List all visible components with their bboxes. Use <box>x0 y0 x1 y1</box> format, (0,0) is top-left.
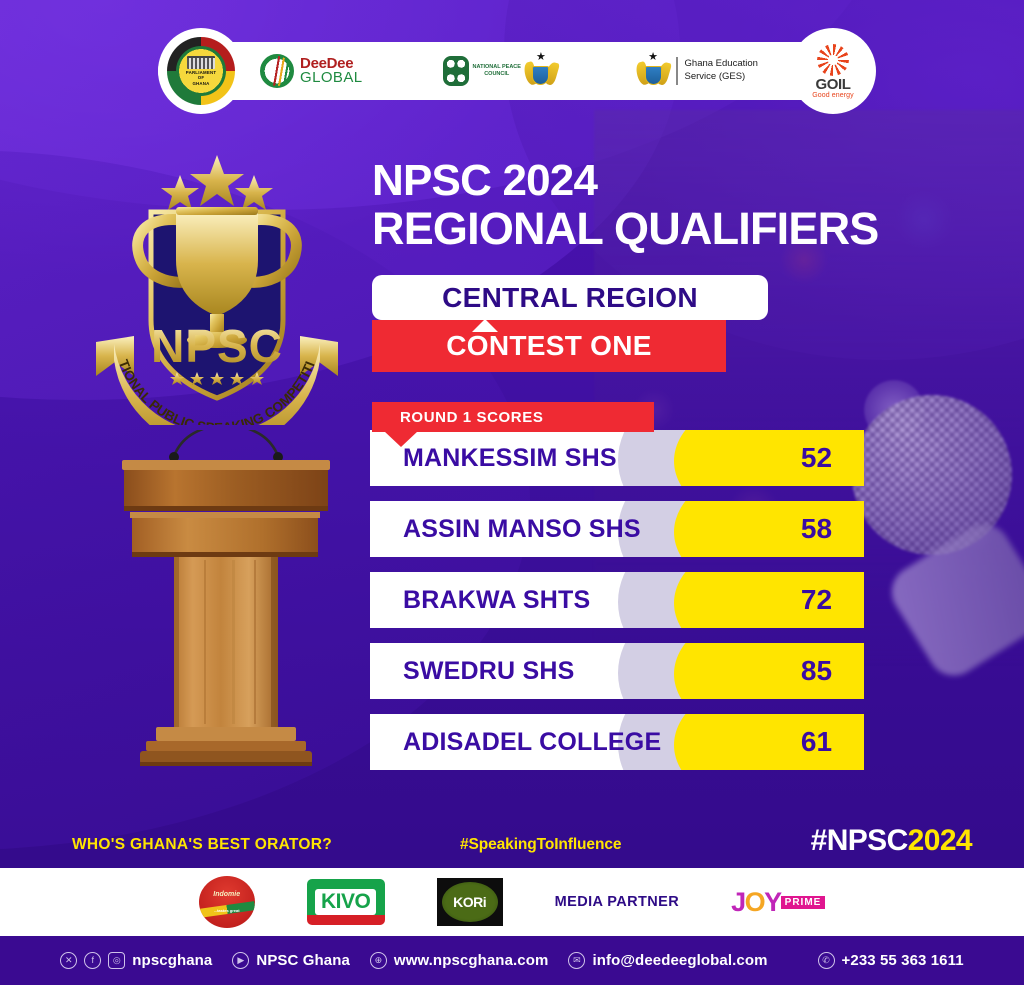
table-row[interactable]: MANKESSIM SHS 52 <box>370 430 864 486</box>
round-label-banner: ROUND 1 SCORES <box>372 402 654 432</box>
page-title: NPSC 2024 REGIONAL QUALIFIERS <box>372 158 972 252</box>
email-group: ✉ info@deedeeglobal.com <box>568 952 767 969</box>
tagline-row: WHO'S GHANA'S BEST ORATOR? #SpeakingToIn… <box>0 832 1024 866</box>
npc-line2: COUNCIL <box>473 71 521 78</box>
kori-logo: KORi <box>437 878 503 926</box>
indomie-tagline: ...tastes great <box>214 909 240 914</box>
deedee-globe-icon <box>260 54 294 88</box>
school-score: 52 <box>769 430 864 486</box>
npsc-trophy-emblem: NPSC NATIONAL PUBLIC SPEAKING COMPETITIO… <box>88 150 346 425</box>
facebook-icon[interactable]: f <box>84 952 101 969</box>
contact-bar: ✕ f ◎ npscghana ▶ NPSC Ghana ⊕ www.npscg… <box>0 936 1024 985</box>
joy-prime-label: PRIME <box>781 896 826 909</box>
ges-line1: Ghana Education <box>685 58 758 71</box>
deedee-name-line2: GLOBAL <box>300 71 362 85</box>
svg-text:NPSC: NPSC <box>151 320 283 372</box>
campaign-hashtag: #NPSC2024 <box>811 824 972 858</box>
national-peace-council-logo: NATIONAL PEACE COUNCIL ★ <box>443 53 557 89</box>
social-handles-group: ✕ f ◎ npscghana <box>60 952 212 969</box>
deedee-global-logo: DeeDee GLOBAL <box>260 54 362 88</box>
round-notch-icon <box>384 431 418 447</box>
npc-line1: NATIONAL PEACE <box>473 64 521 71</box>
school-score: 58 <box>769 501 864 557</box>
phone-icon: ✆ <box>818 952 835 969</box>
kivo-logo: KIVO <box>307 879 385 925</box>
school-name: ASSIN MANSO SHS <box>370 515 641 544</box>
school-score: 85 <box>769 643 864 699</box>
joy-name: JOY <box>731 891 781 914</box>
contest-label: CONTEST ONE <box>446 330 652 362</box>
table-row[interactable]: SWEDRU SHS 85 <box>370 643 864 699</box>
goil-logo: GOIL Good energy <box>790 28 876 114</box>
tagline-hashtag: #SpeakingToInfluence <box>460 836 621 854</box>
envelope-icon: ✉ <box>568 952 585 969</box>
round-label: ROUND 1 SCORES <box>400 409 543 426</box>
podium-illustration <box>112 430 340 780</box>
sponsor-bar: DeeDee GLOBAL NATIONAL PEACE COUNCIL ★ ★ <box>158 42 868 100</box>
school-name: BRAKWA SHTS <box>370 586 590 615</box>
goil-swirl-icon <box>817 44 849 76</box>
kivo-label: KIVO <box>315 889 376 915</box>
youtube-channel: NPSC Ghana <box>256 952 350 969</box>
phone-group: ✆ +233 55 363 1611 <box>818 952 964 969</box>
kori-label: KORi <box>442 882 498 922</box>
parliament-of-ghana-logo: PARLIAMENT OF GHANA <box>158 28 244 114</box>
social-handle: npscghana <box>132 952 212 969</box>
school-score: 61 <box>769 714 864 770</box>
tagline-question: WHO'S GHANA'S BEST ORATOR? <box>72 836 332 854</box>
table-row[interactable]: BRAKWA SHTS 72 <box>370 572 864 628</box>
school-name: MANKESSIM SHS <box>370 444 617 473</box>
table-row[interactable]: ASSIN MANSO SHS 58 <box>370 501 864 557</box>
email-address[interactable]: info@deedeeglobal.com <box>592 952 767 969</box>
ges-line2: Service (GES) <box>685 71 758 84</box>
media-partner-label: MEDIA PARTNER <box>555 894 679 910</box>
parliament-line3: GHANA <box>179 81 223 87</box>
school-name: ADISADEL COLLEGE <box>370 728 661 757</box>
goil-name: GOIL <box>812 77 854 92</box>
indomie-name: Indomie <box>213 891 240 899</box>
globe-icon: ⊕ <box>370 952 387 969</box>
indomie-logo: Indomie ...tastes great <box>199 876 255 928</box>
x-twitter-icon[interactable]: ✕ <box>60 952 77 969</box>
goil-tagline: Good energy <box>812 92 854 99</box>
school-score: 72 <box>769 572 864 628</box>
website-group: ⊕ www.npscghana.com <box>370 952 549 969</box>
instagram-icon[interactable]: ◎ <box>108 952 125 969</box>
partner-band: Indomie ...tastes great KIVO KORi MEDIA … <box>0 868 1024 936</box>
headline-line1: NPSC 2024 <box>372 158 972 205</box>
youtube-group: ▶ NPSC Ghana <box>232 952 350 969</box>
peace-knot-icon <box>443 56 469 86</box>
school-name: SWEDRU SHS <box>370 657 574 686</box>
poster-canvas: DeeDee GLOBAL NATIONAL PEACE COUNCIL ★ ★ <box>0 0 1024 985</box>
joy-prime-logo: JOY PRIME <box>731 891 825 914</box>
campaign-hashtag-white: #NPSC <box>811 824 908 857</box>
contest-notch-icon <box>472 319 498 332</box>
website-url[interactable]: www.npscghana.com <box>394 952 549 969</box>
table-row[interactable]: ADISADEL COLLEGE 61 <box>370 714 864 770</box>
phone-number[interactable]: +233 55 363 1611 <box>842 952 964 969</box>
ges-divider <box>676 57 678 85</box>
contest-banner: CONTEST ONE <box>372 320 726 372</box>
parliament-building-icon <box>187 56 215 69</box>
ghana-coat-of-arms-icon: ★ <box>525 53 557 89</box>
headline-line2: REGIONAL QUALIFIERS <box>372 205 972 253</box>
campaign-hashtag-year: 2024 <box>908 824 972 857</box>
youtube-icon[interactable]: ▶ <box>232 952 249 969</box>
ghana-education-service-logo: ★ Ghana Education Service (GES) <box>637 53 758 89</box>
score-list: MANKESSIM SHS 52 ASSIN MANSO SHS 58 BRAK… <box>370 430 864 785</box>
region-label: CENTRAL REGION <box>442 282 698 314</box>
region-banner: CENTRAL REGION <box>372 275 768 320</box>
ghana-coat-of-arms-icon-ges: ★ <box>637 53 669 89</box>
